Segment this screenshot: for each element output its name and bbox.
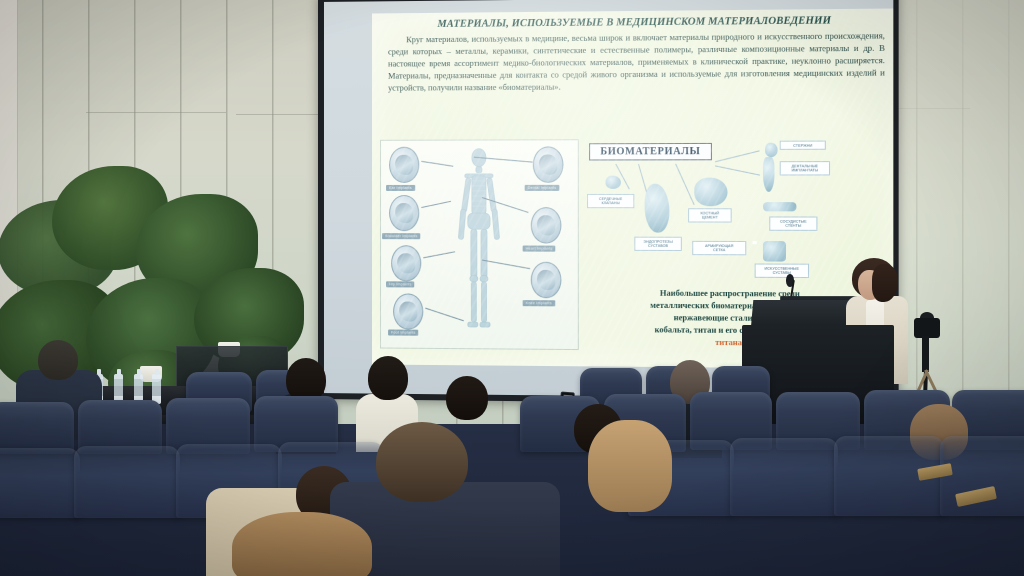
biomaterials-title: БИОМАТЕРИАЛЫ: [589, 143, 712, 161]
fig-label-dental-implants: Dental Implants: [525, 185, 560, 191]
note-line-1: Наибольшее распространение среди: [660, 289, 800, 299]
fig-label-hip-implants: Hip Implants: [386, 281, 415, 287]
seat: [74, 446, 180, 518]
fig-label-shoulder-implants: Shoulder Implants: [382, 233, 421, 239]
node-surgical-sutures: АРМИРУЮЩАЯ СЕТКА: [692, 241, 746, 255]
seat: [0, 448, 80, 518]
fig-label-foot-implants: Foot Implants: [388, 329, 419, 335]
slide-body-text: Круг материалов, используемых в медицине…: [372, 29, 893, 94]
seat: [940, 436, 1024, 516]
node-dental-implants: ДЕНТАЛЬНЫЕ ИМПЛАНТАТЫ: [780, 161, 830, 175]
node-vascular-stents: СОСУДИСТЫЕ СТЕНТЫ: [769, 216, 817, 230]
node-rods: СТЕРЖНИ: [780, 141, 826, 151]
camera-head: [914, 318, 940, 338]
tripod-column: [922, 336, 929, 372]
fig-label-knee-implants: Knee Implants: [523, 300, 555, 306]
node-heart-valves: СЕРДЕЧНЫЕ КЛАПАНЫ: [587, 194, 634, 208]
implant-body-diagram: Ear Implants Shoulder Implants Hip Impla…: [380, 139, 579, 350]
seat: [730, 438, 838, 516]
seat: [0, 402, 74, 454]
fig-label-ear-implants: Ear Implants: [386, 185, 415, 191]
attendee: [232, 512, 382, 576]
node-joint-endoprostheses: ЭНДОПРОТЕЗЫ СУСТАВОВ: [634, 237, 682, 251]
node-bone-cement: КОСТНЫЙ ЦЕМЕНТ: [688, 208, 732, 222]
attendee: [576, 420, 696, 540]
slide-figures: Ear Implants Shoulder Implants Hip Impla…: [372, 138, 893, 293]
lecture-hall-scene: МАТЕРИАЛЫ, ИСПОЛЬЗУЕМЫЕ В МЕДИЦИНСКОМ МА…: [0, 0, 1024, 576]
note-highlight-2: титана.: [715, 337, 744, 346]
fig-label-heart-implants: Heart Implants: [523, 246, 556, 252]
wall-seam-h: [86, 112, 226, 113]
skeleton-illustration: [448, 147, 511, 335]
node-artificial-joints: ИСКУССТВЕННЫЕ СУСТАВЫ: [755, 264, 809, 278]
